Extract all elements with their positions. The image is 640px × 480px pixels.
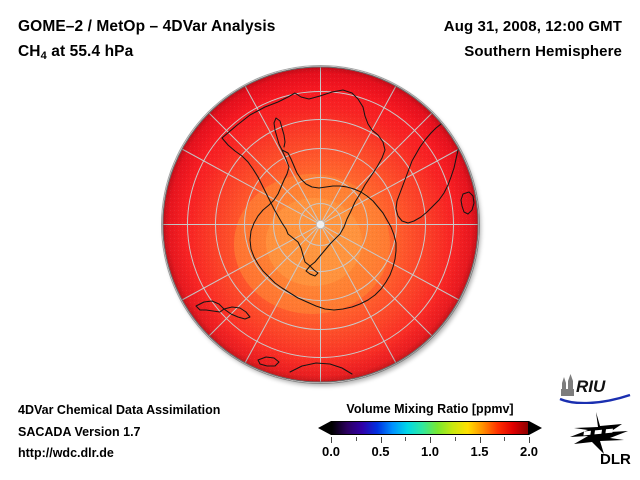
- riu-logo: RIU: [556, 372, 634, 404]
- colorbar-minor-tick: [455, 437, 456, 441]
- colorbar-tick-label: 1.0: [421, 444, 439, 459]
- figure-root: GOME–2 / MetOp – 4DVar Analysis CH4 at 5…: [0, 0, 640, 480]
- colorbar-major-tick: [381, 437, 382, 443]
- map-svg: [162, 66, 479, 383]
- species-subscript: 4: [41, 50, 47, 62]
- colorbar-extend-max-arrow: [529, 421, 542, 435]
- colorbar-gradient: [331, 421, 529, 435]
- colorbar-title: Volume Mixing Ratio [ppmv]: [318, 402, 542, 416]
- dlr-logo-text: DLR: [600, 451, 631, 468]
- cathedral-icon: [561, 374, 574, 396]
- colorbar-minor-tick: [504, 437, 505, 441]
- colorbar: Volume Mixing Ratio [ppmv] 0.00.51.01.52…: [318, 402, 542, 462]
- header-right: Aug 31, 2008, 12:00 GMT Southern Hemisph…: [322, 14, 622, 64]
- colorbar-major-tick: [430, 437, 431, 443]
- colorbar-extend-min-arrow: [318, 421, 331, 435]
- hemisphere-label: Southern Hemisphere: [322, 39, 622, 64]
- colorbar-tick-labels: 0.00.51.01.52.0: [331, 444, 529, 462]
- colorbar-minor-tick: [356, 437, 357, 441]
- colorbar-tick-label: 1.5: [470, 444, 488, 459]
- colorbar-tick-label: 2.0: [520, 444, 538, 459]
- globe-container: [162, 66, 479, 383]
- footer-text: 4DVar Chemical Data Assimilation SACADA …: [18, 400, 220, 465]
- colorbar-major-tick: [480, 437, 481, 443]
- riu-logo-text: RIU: [576, 377, 606, 396]
- colorbar-minor-tick: [405, 437, 406, 441]
- colorbar-major-tick: [529, 437, 530, 443]
- colorbar-ticks: [331, 437, 529, 444]
- species-label: CH: [18, 43, 41, 60]
- footer-line-2: SACADA Version 1.7: [18, 422, 220, 444]
- timestamp-label: Aug 31, 2008, 12:00 GMT: [322, 14, 622, 39]
- pressure-level-label: at 55.4 hPa: [47, 43, 134, 60]
- riu-logo-svg: RIU: [556, 372, 634, 404]
- pole-marker: [316, 220, 324, 228]
- colorbar-tick-label: 0.0: [322, 444, 340, 459]
- dlr-logo: DLR: [566, 410, 634, 468]
- footer-url[interactable]: http://wdc.dlr.de: [18, 443, 220, 465]
- orthographic-map: [162, 66, 479, 383]
- riu-swoosh: [560, 395, 630, 403]
- dlr-logo-svg: DLR: [566, 410, 634, 468]
- colorbar-major-tick: [331, 437, 332, 443]
- colorbar-row: [318, 420, 542, 437]
- colorbar-tick-label: 0.5: [371, 444, 389, 459]
- footer-line-1: 4DVar Chemical Data Assimilation: [18, 400, 220, 422]
